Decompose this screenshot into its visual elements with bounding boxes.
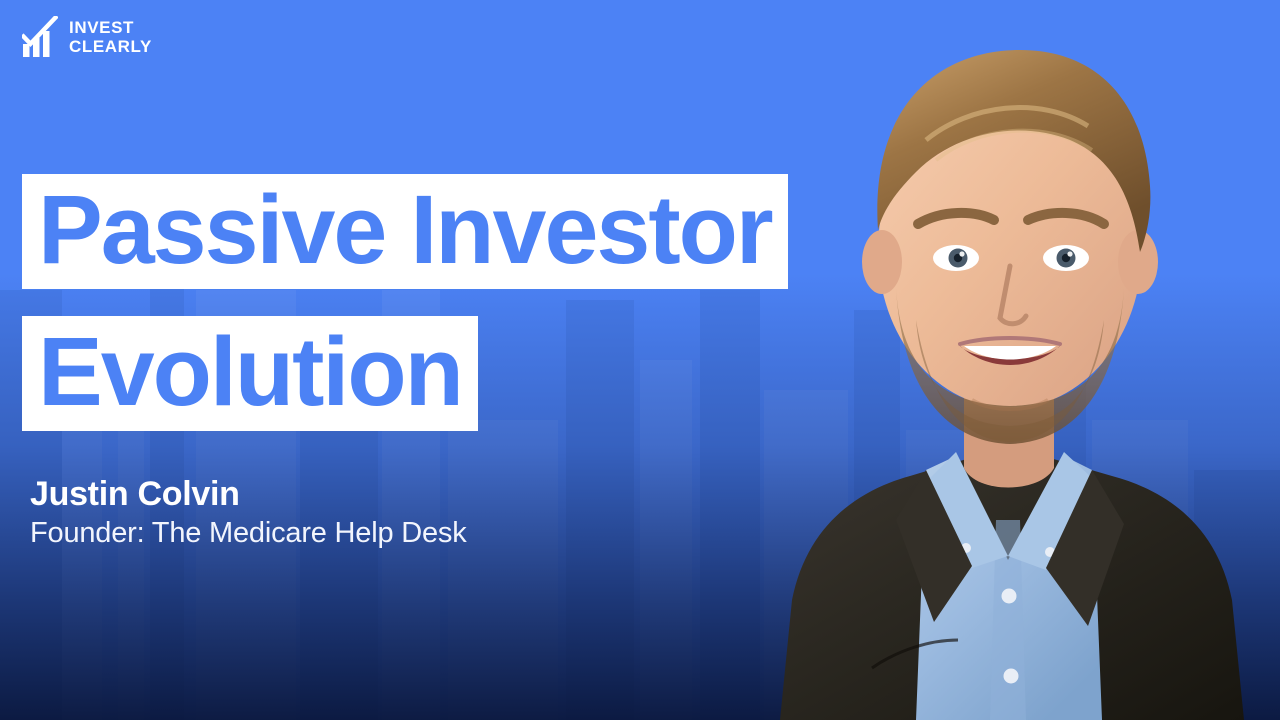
speaker-info: Justin Colvin Founder: The Medicare Help… — [30, 474, 467, 552]
thumbnail-canvas: INVEST CLEARLY — [0, 0, 1280, 720]
headline: Passive Investor Evolution — [22, 174, 788, 431]
brand-logo[interactable]: INVEST CLEARLY — [22, 16, 152, 58]
headline-line-2: Evolution — [38, 322, 462, 421]
bar-chart-checkmark-icon — [22, 16, 58, 58]
speaker-role: Founder: The Medicare Help Desk — [30, 514, 467, 552]
speaker-name: Justin Colvin — [30, 474, 467, 514]
headline-line-1: Passive Investor — [38, 180, 772, 279]
brand-name-line2: CLEARLY — [69, 37, 152, 56]
brand-name: INVEST CLEARLY — [69, 18, 152, 56]
brand-name-line1: INVEST — [69, 18, 152, 37]
headline-line-1-block: Passive Investor — [22, 174, 788, 289]
headline-line-2-block: Evolution — [22, 316, 478, 431]
